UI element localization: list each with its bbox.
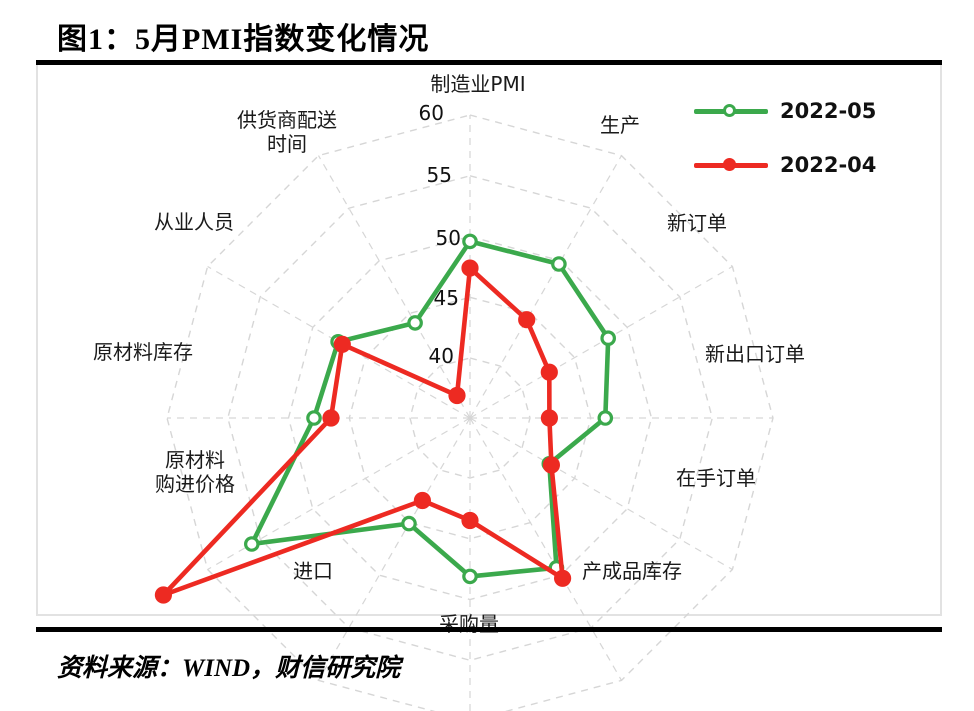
legend-swatch-2022-05 bbox=[694, 103, 768, 119]
radial-tick-60: 60 bbox=[396, 101, 444, 125]
radial-tick-45: 45 bbox=[411, 286, 459, 310]
legend-swatch-2022-04 bbox=[694, 157, 768, 173]
axis-label-production: 生产 bbox=[560, 113, 680, 137]
axis-label-new-orders: 新订单 bbox=[667, 211, 787, 235]
axis-label-raw-material-inventory: 原材料库存 bbox=[93, 340, 243, 364]
axis-label-purchase-volume: 采购量 bbox=[409, 612, 529, 636]
source-note: 资料来源：WIND，财信研究院 bbox=[57, 648, 400, 684]
figure-container: 图1：5月PMI指数变化情况 制造业PMI 生产 新订单 新出口订单 在手订单 … bbox=[0, 0, 974, 711]
footer-divider bbox=[36, 627, 942, 632]
radial-tick-50: 50 bbox=[413, 226, 461, 250]
axis-label-new-export-orders: 新出口订单 bbox=[705, 342, 855, 366]
radial-tick-40: 40 bbox=[406, 344, 454, 368]
legend-label-2022-05: 2022-05 bbox=[780, 99, 876, 123]
axis-label-backlog-orders: 在手订单 bbox=[676, 466, 806, 490]
legend-item-2022-05[interactable]: 2022-05 bbox=[694, 92, 876, 130]
legend-label-2022-04: 2022-04 bbox=[780, 153, 876, 177]
axis-label-imports: 进口 bbox=[268, 559, 358, 583]
radial-tick-55: 55 bbox=[404, 163, 452, 187]
axis-label-finished-goods-inventory: 产成品库存 bbox=[582, 559, 742, 583]
axis-label-manufacturing-pmi: 制造业PMI bbox=[408, 72, 548, 96]
page-title: 图1：5月PMI指数变化情况 bbox=[57, 14, 429, 58]
axis-label-employees: 从业人员 bbox=[154, 210, 274, 234]
axis-label-raw-material-purchase-price: 原材料购进价格 bbox=[125, 448, 265, 497]
axis-label-supplier-delivery-time: 供货商配送时间 bbox=[212, 108, 362, 157]
legend-item-2022-04[interactable]: 2022-04 bbox=[694, 146, 876, 184]
chart-legend: 2022-05 2022-04 bbox=[694, 92, 876, 184]
